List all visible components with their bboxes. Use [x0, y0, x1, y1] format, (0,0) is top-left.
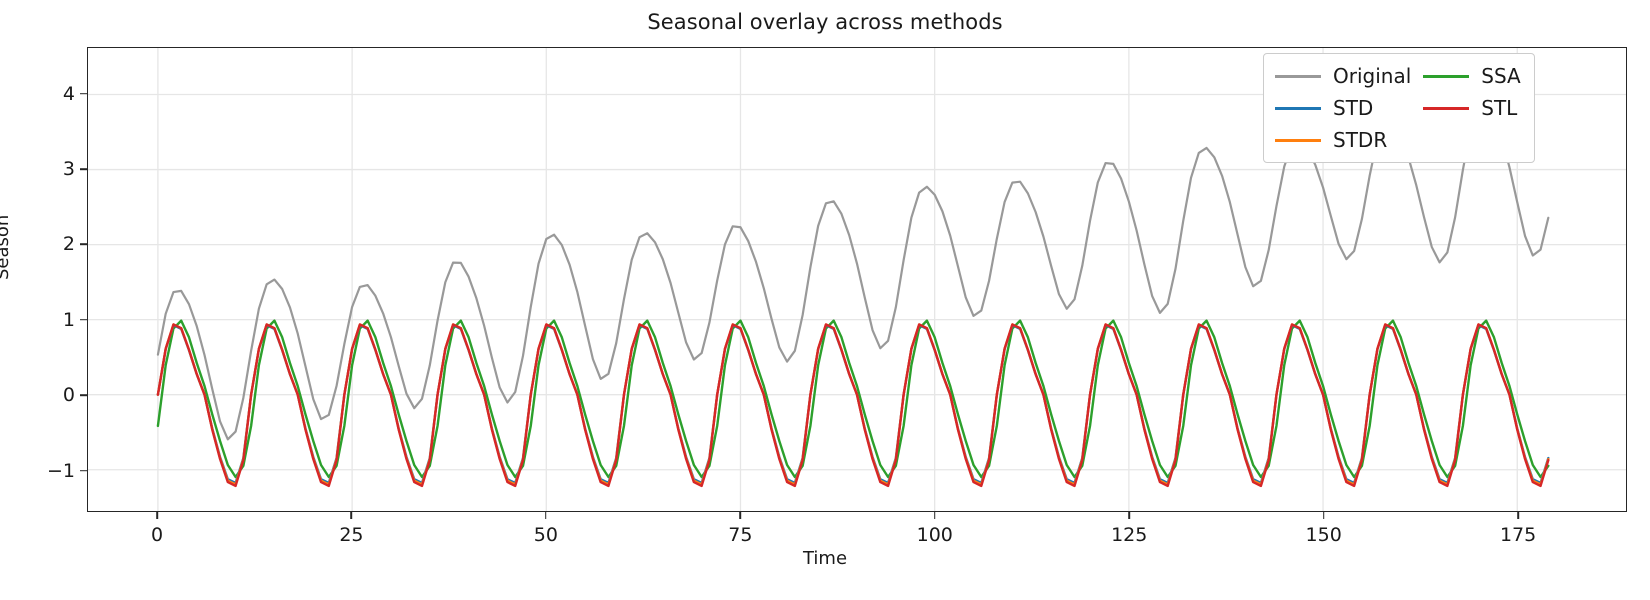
- chart-title: Seasonal overlay across methods: [0, 10, 1650, 34]
- legend-items: OriginalSSASTDSTLSTDR: [1275, 63, 1521, 153]
- x-tick-label-50: 50: [511, 524, 581, 546]
- y-tick-label-1: 1: [15, 309, 75, 331]
- x-tick-mark: [1128, 512, 1130, 519]
- x-axis-label: Time: [0, 548, 1650, 569]
- x-tick-label-175: 175: [1483, 524, 1553, 546]
- y-tick-mark: [80, 93, 87, 95]
- series-line-stl: [158, 324, 1548, 485]
- x-tick-label-25: 25: [316, 524, 386, 546]
- x-tick-mark: [1323, 512, 1325, 519]
- y-tick-label-2: 2: [15, 233, 75, 255]
- legend-swatch-empty: [1423, 139, 1469, 142]
- y-tick-mark: [80, 168, 87, 170]
- y-tick-label-3: 3: [15, 158, 75, 180]
- y-axis-label: Season: [0, 215, 13, 280]
- x-tick-mark: [156, 512, 158, 519]
- x-tick-label-100: 100: [900, 524, 970, 546]
- y-tick-label-0: 0: [15, 384, 75, 406]
- legend-swatch-stl: [1423, 107, 1469, 110]
- x-tick-mark: [1517, 512, 1519, 519]
- legend-label-stdr[interactable]: STDR: [1333, 127, 1411, 153]
- x-tick-mark: [351, 512, 353, 519]
- x-tick-mark: [740, 512, 742, 519]
- legend-swatch-stdr: [1275, 139, 1321, 142]
- x-tick-label-0: 0: [122, 524, 192, 546]
- legend-label-ssa[interactable]: SSA: [1481, 63, 1520, 89]
- series-line-ssa: [158, 321, 1548, 477]
- y-tick-mark: [80, 244, 87, 246]
- x-tick-label-150: 150: [1289, 524, 1359, 546]
- figure-canvas: Seasonal overlay across methods Season T…: [0, 0, 1650, 600]
- legend-swatch-original: [1275, 75, 1321, 78]
- legend-swatch-std: [1275, 107, 1321, 110]
- legend-label-original[interactable]: Original: [1333, 63, 1411, 89]
- y-tick-mark: [80, 319, 87, 321]
- legend[interactable]: OriginalSSASTDSTLSTDR: [1263, 53, 1535, 163]
- legend-label-std[interactable]: STD: [1333, 95, 1411, 121]
- legend-label-stl[interactable]: STL: [1481, 95, 1520, 121]
- y-tick-mark: [80, 470, 87, 472]
- x-tick-mark: [545, 512, 547, 519]
- x-tick-mark: [934, 512, 936, 519]
- x-tick-label-75: 75: [705, 524, 775, 546]
- y-tick-mark: [80, 394, 87, 396]
- legend-swatch-ssa: [1423, 75, 1469, 78]
- y-tick-label-4: 4: [15, 83, 75, 105]
- x-tick-label-125: 125: [1094, 524, 1164, 546]
- y-tick-label--1: −1: [15, 460, 75, 482]
